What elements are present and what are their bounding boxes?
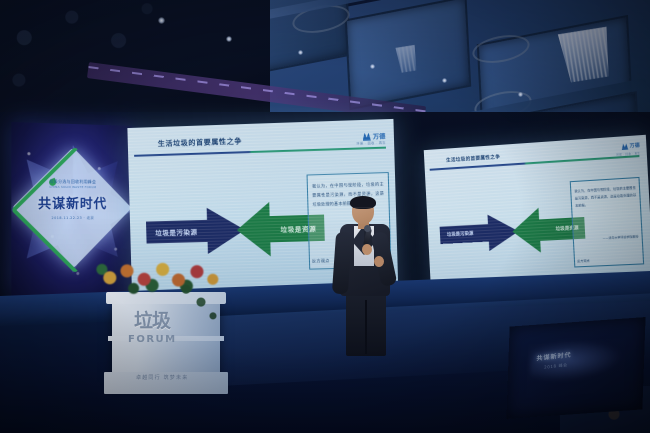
arrow-pollution-source-secondary: 垃圾是污染源 [439, 213, 519, 253]
podium-logo-cn: 垃圾 [134, 306, 170, 333]
brand-wordmark: 万德 [629, 142, 640, 149]
quote-attribution-secondary: ——清华大学环境学院教授 [603, 234, 639, 240]
flower-greenery-trail [176, 280, 226, 326]
conference-stage-photo: 垃圾分选与回收利用峰会 CHINA SOLID WASTE FORUM 共谋新时… [0, 0, 650, 433]
banner-org-sub: CHINA SOLID WASTE FORUM [25, 185, 120, 190]
presenter-hand-holding-mic [362, 244, 372, 255]
presenter-leg-split [365, 300, 367, 354]
quote-label-secondary: 反方观点 [577, 259, 590, 264]
podium-slogan: 卓越同行 筑梦未来 [136, 374, 188, 381]
banner-text-block: 垃圾分选与回收利用峰会 CHINA SOLID WASTE FORUM 共谋新时… [25, 178, 120, 221]
stage-spotlight [518, 92, 523, 97]
banner-title: 共谋新时代 [25, 193, 120, 212]
stage-spotlight [158, 17, 165, 24]
stage-spotlight [226, 36, 232, 42]
quote-text-secondary: 我认为，在中国与现阶段，垃圾的主要属性是污染源，而不是资源，这是垃圾处理的基本前… [574, 184, 636, 209]
brand-mark-icon [362, 132, 370, 140]
arrow-left-label-secondary: 垃圾是污染源 [447, 231, 474, 238]
slide-title-secondary: 生活垃圾的首要属性之争 [446, 154, 500, 164]
arrow-left-label: 垃圾是污染源 [155, 226, 197, 237]
podium-logo-en: FORUM [128, 334, 177, 345]
floor-display-panel: 共谋新时代 2018 峰会 [506, 317, 645, 419]
presenter-hand-gesturing [374, 256, 384, 267]
brand-mark-icon [622, 143, 629, 150]
stage-spotlight [442, 78, 447, 83]
presenter-glasses [353, 207, 373, 212]
slide-quote-box-secondary: 我认为，在中国与现阶段，垃圾的主要属性是污染源，而不是资源，这是垃圾处理的基本前… [570, 177, 644, 268]
brand-tagline: 环保 · 回收 · 再生 [356, 141, 386, 146]
brand-wordmark: 万德 [373, 131, 386, 141]
stage-spotlight [370, 64, 375, 69]
banner-date: 2018.11.22-23 · 北京 [25, 216, 120, 221]
arrow-pollution-source: 垃圾是污染源 [146, 207, 246, 256]
stage-spotlight [298, 50, 303, 55]
quote-label: 反方观点 [312, 258, 330, 265]
microphone-head-icon [364, 225, 371, 232]
presenter-person [330, 196, 404, 356]
slide-brand-logo-secondary: 万德 [622, 142, 641, 149]
slide-title: 生活垃圾的首要属性之争 [158, 136, 242, 149]
